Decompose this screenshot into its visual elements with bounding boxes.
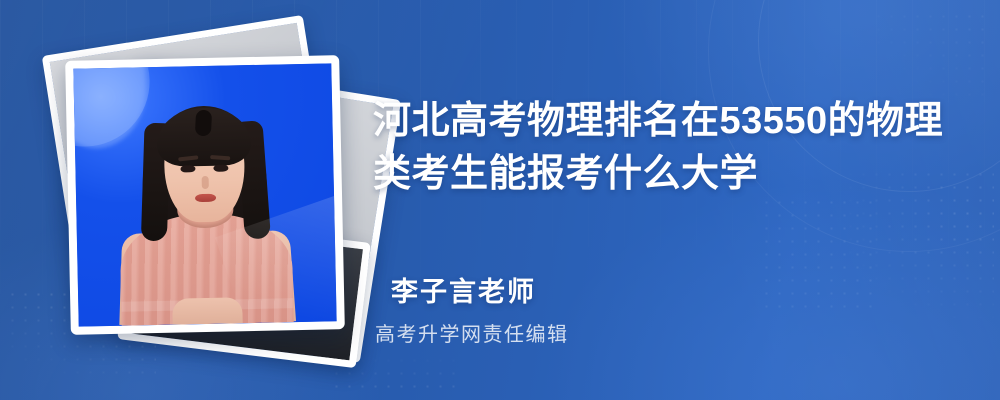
- author-name: 李子言老师: [391, 270, 536, 309]
- page-title: 河北高考物理排名在53550的物理 类考生能报考什么大学: [373, 95, 953, 201]
- hair-parting: [195, 110, 212, 137]
- banner-text-column: 河北高考物理排名在53550的物理 类考生能报考什么大学 李子言老师 高考升学网…: [373, 0, 973, 400]
- eye-left: [180, 165, 195, 172]
- author-portrait-card: [65, 55, 345, 335]
- author-role: 高考升学网责任编辑: [375, 318, 569, 347]
- hands: [172, 297, 243, 324]
- nose: [202, 176, 209, 189]
- article-hero-banner: 河北高考物理排名在53550的物理 类考生能报考什么大学 李子言老师 高考升学网…: [0, 0, 1000, 400]
- mouth: [195, 194, 216, 202]
- portrait-photo: [73, 63, 336, 326]
- photo-stack: [40, 32, 360, 362]
- page-title-line-1: 河北高考物理排名在53550的物理: [373, 95, 953, 148]
- page-title-line-2: 类考生能报考什么大学: [373, 148, 953, 201]
- eye-right: [213, 165, 228, 172]
